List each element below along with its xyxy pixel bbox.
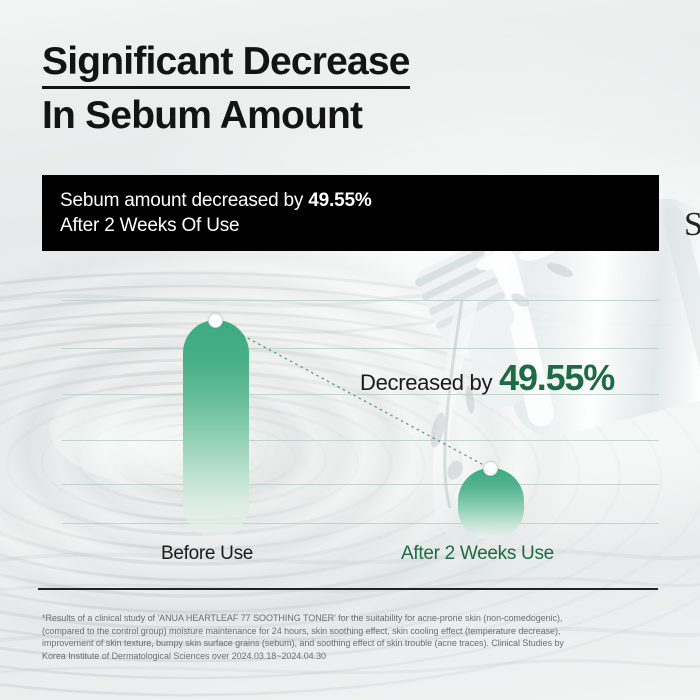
footnote-line-3: improvement of skin texture, bumpy skin … [42, 637, 662, 650]
banner-line-1: Sebum amount decreased by 49.55% [60, 188, 659, 213]
page-title: Significant Decrease In Sebum Amount [42, 40, 410, 138]
title-line-2: In Sebum Amount [42, 94, 410, 138]
footnote-line-4: Korea Institute of Dermatological Scienc… [42, 650, 662, 663]
category-label-after-2-weeks: After 2 Weeks Use [401, 543, 554, 565]
category-label-before-use: Before Use [161, 543, 253, 565]
banner-line-1-value: 49.55% [308, 190, 371, 211]
banner-line-2: After 2 Weeks Of Use [60, 213, 659, 238]
callout-label: Decreased by [360, 370, 492, 395]
footnote-line-1: *Results of a clinical study of 'ANUA HE… [42, 612, 662, 625]
footnote-text: *Results of a clinical study of 'ANUA HE… [42, 612, 662, 662]
footnote-line-2: (compared to the control group) moisture… [42, 625, 662, 638]
cropped-edge-glyph: S [684, 206, 700, 252]
callout-value: 49.55% [499, 357, 614, 398]
title-line-1-wrap: Significant Decrease [42, 40, 410, 89]
title-line-1: Significant Decrease [42, 40, 410, 89]
footnote-divider [38, 588, 658, 590]
highlight-banner: Sebum amount decreased by 49.55% After 2… [42, 175, 659, 251]
decrease-callout: Decreased by49.55% [360, 357, 614, 399]
banner-line-1-prefix: Sebum amount decreased by [60, 190, 308, 211]
